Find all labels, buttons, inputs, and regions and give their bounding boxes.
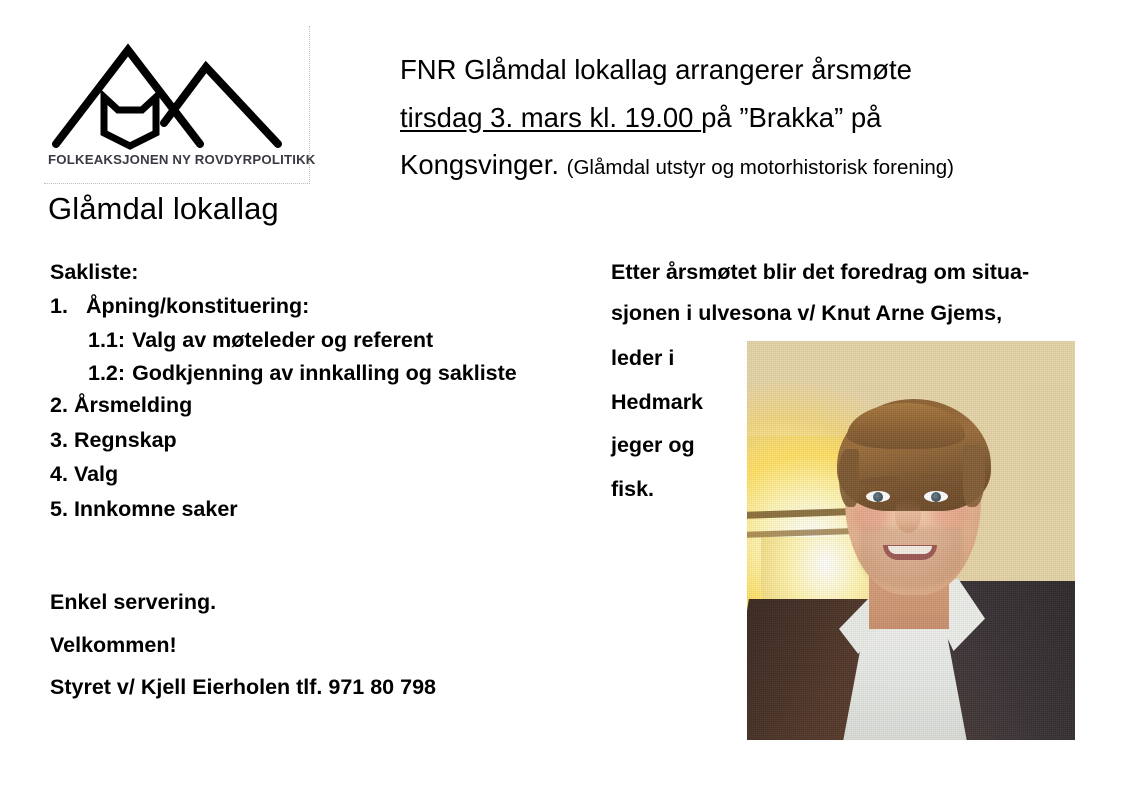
meeting-place: Kongsvinger. [400,149,559,180]
speaker-line-6: fisk. [611,479,736,501]
meeting-place-note: (Glåmdal utstyr og motorhistorisk foreni… [567,156,954,179]
agenda-item-number: 1.1: [88,330,125,352]
speaker-announcement-wrapped: leder i Hedmark jeger og fisk. [611,348,736,522]
headline-line-1: FNR Glåmdal lokallag arrangerer årsmøte [400,56,1090,84]
agenda-item-label: Valg av møteleder og referent [132,330,433,352]
speaker-line-2: sjonen i ulvesona v/ Knut Arne Gjems, [611,303,1077,325]
speaker-line-4: Hedmark [611,392,736,414]
meeting-datetime-underlined: tirsdag 3. mars kl. 19.00 [400,102,701,133]
agenda-item-2: 2. Årsmelding [50,395,590,417]
speaker-line-3: leder i [611,348,736,370]
announcement-headline: FNR Glåmdal lokallag arrangerer årsmøte … [400,56,1090,199]
closing-refreshments: Enkel servering. [50,592,590,614]
closing-contact: Styret v/ Kjell Eierholen tlf. 971 80 79… [50,677,590,699]
logo-tagline: FOLKEAKSJONEN NY ROVDYRPOLITIKK [48,152,310,167]
agenda-item-1-1: 1.1: Valg av møteleder og referent [50,330,590,352]
agenda-item-label: Åpning/konstituering: [86,296,309,318]
agenda-item-1: 1. Åpning/konstituering: [50,296,590,318]
speaker-line-5: jeger og [611,435,736,457]
closing-welcome: Velkommen! [50,635,590,657]
headline-line-3: Kongsvinger. (Glåmdal utstyr og motorhis… [400,151,1090,179]
fnr-mountains-predator-logo-icon [50,28,298,150]
agenda-section: Sakliste: 1. Åpning/konstituering: 1.1: … [50,262,590,533]
agenda-item-number: 2. [50,395,68,417]
speaker-announcement: Etter årsmøtet blir det foredrag om situ… [611,262,1077,343]
agenda-item-4: 4. Valg [50,464,590,486]
agenda-item-label: Innkomne saker [74,499,238,521]
agenda-item-number: 4. [50,464,68,486]
photo-mouth [883,545,937,560]
agenda-item-3: 3. Regnskap [50,430,590,452]
headline-line-2: tirsdag 3. mars kl. 19.00 på ”Brakka” på [400,104,1090,132]
agenda-item-number: 5. [50,499,68,521]
speaker-line-1: Etter årsmøtet blir det foredrag om situ… [611,262,1077,284]
agenda-item-label: Godkjenning av innkalling og sakliste [132,363,517,385]
agenda-item-label: Årsmelding [74,395,192,417]
agenda-item-1-2: 1.2: Godkjenning av innkalling og saklis… [50,363,590,385]
agenda-item-5: 5. Innkomne saker [50,499,590,521]
photo-iris-right [931,492,941,502]
photo-sideburn-left [839,449,859,507]
photo-eye-left [866,491,890,502]
photo-iris-left [873,492,883,502]
closing-section: Enkel servering. Velkommen! Styret v/ Kj… [50,592,590,720]
agenda-heading: Sakliste: [50,262,590,284]
agenda-item-number: 1.2: [88,363,125,385]
speaker-portrait-photo [747,341,1075,740]
headline-line-2-rest: på ”Brakka” på [701,102,881,133]
agenda-item-label: Valg [74,464,118,486]
photo-teeth [888,546,932,554]
photo-nose [895,499,921,533]
agenda-item-label: Regnskap [74,430,177,452]
photo-eye-right [924,491,948,502]
organization-logo-block: FOLKEAKSJONEN NY ROVDYRPOLITIKK [44,26,310,184]
agenda-item-number: 1. [50,296,86,318]
organization-subtitle: Glåmdal lokallag [48,191,279,227]
agenda-item-number: 3. [50,430,68,452]
photo-sideburn-right [963,445,985,507]
